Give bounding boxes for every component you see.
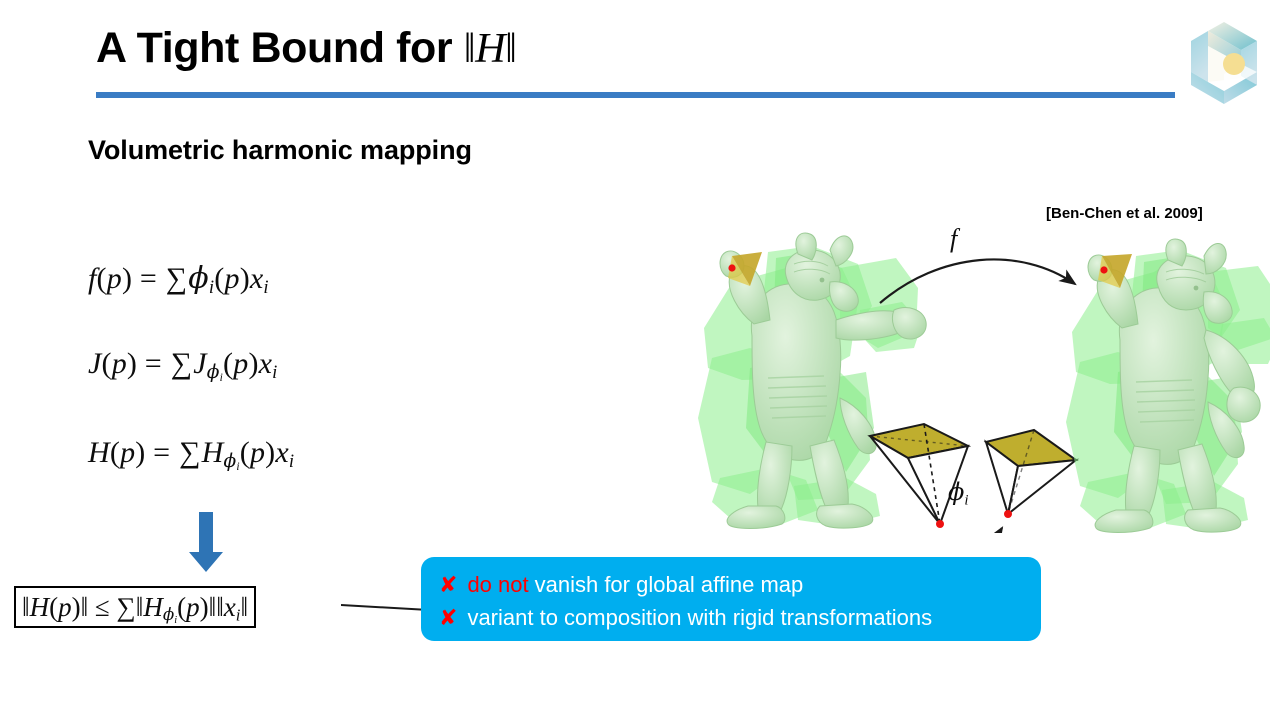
- citation-reference: [Ben-Chen et al. 2009]: [1046, 205, 1203, 222]
- figure-label-phi: ϕi: [948, 478, 969, 507]
- title-underline-rule: [96, 92, 1175, 98]
- tetrahedron-target: [986, 430, 1076, 518]
- bound-formula: ‖H(p)‖ ≤ ∑‖Hϕi(p)‖‖xi‖: [22, 592, 248, 623]
- bound-formula-box: ‖H(p)‖ ≤ ∑‖Hϕi(p)‖‖xi‖: [14, 586, 256, 628]
- page-title: A Tight Bound for ‖H‖: [96, 27, 517, 70]
- page-title-math: ‖H‖: [464, 26, 517, 72]
- mapping-arrow-phi: [928, 528, 1002, 533]
- callout-line: ✘ do not vanish for global affine map: [439, 569, 1041, 602]
- vertex-marker: [1004, 510, 1012, 518]
- section-heading: Volumetric harmonic mapping: [88, 135, 472, 166]
- callout-connector-line: [341, 600, 429, 610]
- figure-label-phi-symbol: ϕ: [948, 478, 964, 506]
- vertex-marker: [728, 264, 735, 271]
- equation-jacobian: J(p) = ∑Jϕi(p)xi: [88, 347, 278, 381]
- down-arrow-icon: [185, 512, 227, 574]
- slide-canvas: A Tight Bound for ‖H‖: [0, 0, 1280, 718]
- vertex-marker: [1100, 266, 1107, 273]
- callout-line: ✘ variant to composition with rigid tran…: [439, 602, 1041, 635]
- equation-f: f(p) = ∑ϕi(p)xi: [88, 261, 269, 296]
- cross-mark-icon: ✘: [439, 570, 457, 602]
- armadillo-source-mesh: [698, 233, 926, 529]
- hexagon-g-logo-icon: [1183, 20, 1265, 106]
- equation-hessian: H(p) = ∑Hϕi(p)xi: [88, 436, 294, 470]
- tetrahedron-source: [870, 424, 968, 528]
- figure-label-f: f: [950, 224, 957, 254]
- callout-emphasis: do not: [467, 569, 528, 601]
- callout-text: vanish for global affine map: [535, 569, 804, 601]
- warning-callout: ✘ do not vanish for global affine map ✘ …: [421, 557, 1041, 641]
- figure-label-phi-subscript: i: [964, 492, 968, 508]
- page-title-text: A Tight Bound for: [96, 24, 464, 72]
- callout-text: variant to composition with rigid transf…: [467, 602, 932, 634]
- armadillo-deformed-mesh: [1066, 239, 1270, 533]
- harmonic-mapping-figure: [690, 228, 1270, 533]
- vertex-marker: [936, 520, 944, 528]
- cross-mark-icon: ✘: [439, 603, 457, 635]
